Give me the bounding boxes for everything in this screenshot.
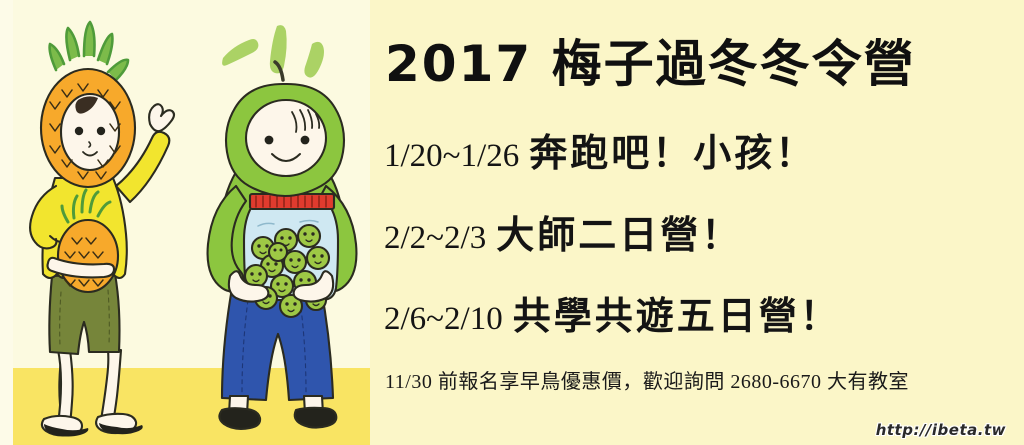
apple-child-face: [246, 100, 326, 176]
pineapple-child-eye-right: [97, 127, 105, 135]
session-row-2: 2/2~2/3 大師二日營！: [384, 204, 742, 259]
pineapple-child: [30, 22, 174, 437]
plum: [307, 247, 329, 269]
accent-marks-group: [222, 25, 324, 77]
site-watermark: http://ibeta.tw: [876, 421, 1006, 439]
apple-child-eye-left: [265, 136, 274, 145]
text-panel: 2017 梅子過冬冬令營 1/20~1/26 奔跑吧！小孩！ 2/2~2/3 大…: [370, 0, 1024, 445]
illustration-panel: [0, 0, 370, 445]
poster-canvas: 2017 梅子過冬冬令營 1/20~1/26 奔跑吧！小孩！ 2/2~2/3 大…: [0, 0, 1024, 445]
apple-child-shoe-left: [219, 408, 260, 429]
page-title: 2017 梅子過冬冬令營: [385, 24, 916, 96]
apple-child-shoe-right: [295, 408, 337, 428]
session-row-3: 2/6~2/10 共學共遊五日營！: [384, 285, 841, 340]
accent-mark-1: [222, 39, 258, 66]
plum: [269, 243, 287, 261]
session-3-name: 共學共遊五日營！: [513, 285, 841, 340]
apple-child-eye-right: [301, 136, 310, 145]
children-illustration: [0, 0, 370, 445]
early-bird-note: 11/30 前報名享早鳥優惠價，歡迎詢問 2680-6670 大有教室: [385, 365, 909, 394]
session-2-name: 大師二日營！: [496, 204, 742, 259]
session-1-name: 奔跑吧！小孩！: [529, 122, 816, 177]
plum: [298, 225, 320, 247]
pineapple-child-eye-left: [75, 127, 83, 135]
session-2-date: 2/2~2/3: [384, 220, 486, 257]
session-row-1: 1/20~1/26 奔跑吧！小孩！: [384, 122, 816, 177]
pineapple-child-leg-left-fill: [58, 350, 73, 424]
pineapple-child-hand-right: [149, 104, 174, 131]
apple-hood: [226, 62, 344, 196]
session-3-date: 2/6~2/10: [384, 301, 503, 338]
apple-child: [208, 62, 357, 429]
accent-mark-3: [304, 42, 324, 78]
pineapple-child-leg-right-fill: [101, 350, 121, 422]
session-1-date: 1/20~1/26: [384, 138, 519, 175]
pineapple-hood: [41, 22, 135, 187]
